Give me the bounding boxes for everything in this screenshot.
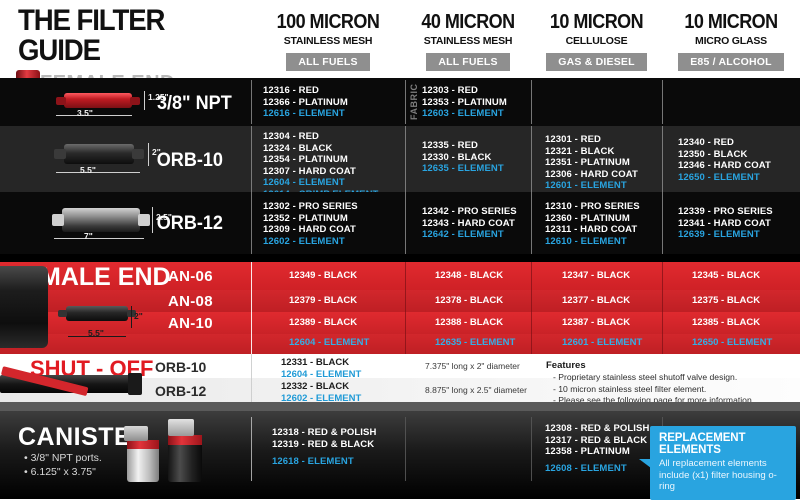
- column-fuel-badge: ALL FUELS: [426, 53, 509, 71]
- row-size-label-shutoff-orb12: ORB-12: [155, 383, 206, 399]
- dimension-male-length: 5.5": [88, 328, 104, 338]
- element-part-number-40micron: 12635 - ELEMENT: [435, 337, 515, 348]
- column-media-label: MICRO GLASS: [662, 35, 800, 47]
- part-number: 12351 - PLATINUM: [545, 157, 638, 169]
- page-title: THE FILTER GUIDE: [18, 6, 239, 66]
- part-number: 12366 - PLATINUM: [263, 97, 348, 109]
- dimension-male-diameter: 2": [134, 311, 143, 321]
- part-number: 12353 - PLATINUM: [422, 97, 507, 109]
- product-photo-orb12-endcap-right: [138, 214, 150, 226]
- cell-an08-100micron: 12379 - BLACK: [289, 295, 357, 306]
- cell-npt-40micron: 12303 - RED 12353 - PLATINUM 12603 - ELE…: [422, 78, 507, 126]
- element-part-number: 12610 - ELEMENT: [545, 236, 640, 248]
- column-header-40-micron: 40 MICRON STAINLESS MESH ALL FUELS: [405, 12, 531, 71]
- table-row-an06: MALE END AN-06 12349 - BLACK 12348 - BLA…: [0, 262, 800, 290]
- column-media-label: STAINLESS MESH: [251, 35, 405, 47]
- shutoff-valve-photo-endcap: [128, 373, 142, 395]
- cell-canister-10micron-cellulose: 12308 - RED & POLISH 12317 - RED & BLACK…: [545, 423, 649, 474]
- column-fuel-badge: E85 / ALCOHOL: [678, 53, 784, 71]
- element-part-number: 12635 - ELEMENT: [422, 163, 504, 175]
- feature-item: - Proprietary stainless steel shutoff va…: [553, 372, 752, 384]
- part-number: 12311 - HARD COAT: [545, 224, 640, 236]
- cell-canister-100micron: 12318 - RED & POLISH 12319 - RED & BLACK…: [272, 427, 376, 468]
- row-size-label-shutoff-orb10: ORB-10: [155, 359, 206, 375]
- product-photo-npt: [64, 93, 132, 108]
- cell-orb12-40micron: 12342 - PRO SERIES 12343 - HARD COAT 126…: [422, 192, 517, 254]
- part-number: 12341 - HARD COAT: [678, 218, 773, 230]
- cell-orb12-100micron: 12302 - PRO SERIES 12352 - PLATINUM 1230…: [263, 192, 358, 254]
- element-part-number: 12603 - ELEMENT: [422, 108, 507, 120]
- column-micron-label: 10 MICRON: [669, 12, 793, 32]
- element-part-number: 12639 - ELEMENT: [678, 229, 773, 241]
- feature-item: - 10 micron stainless steel filter eleme…: [553, 384, 752, 396]
- cell-an10-10micron-microglass: 12385 - BLACK: [692, 317, 760, 328]
- part-number: 12309 - HARD COAT: [263, 224, 358, 236]
- part-number: 12340 - RED: [678, 137, 771, 149]
- element-part-number: 12650 - ELEMENT: [678, 172, 771, 184]
- element-part-number-10micron-cellulose: 12601 - ELEMENT: [562, 337, 642, 348]
- canister-bullets: • 3/8" NPT ports. • 6.125" x 3.75": [24, 452, 102, 479]
- part-number: 12318 - RED & POLISH: [272, 427, 376, 439]
- element-part-number: 12601 - ELEMENT: [545, 180, 638, 192]
- row-size-label-an06: AN-06: [168, 268, 213, 285]
- table-row-npt: 3.5" 1.25" 3/8" NPT 12316 - RED 12366 - …: [0, 78, 800, 126]
- element-part-number: 12602 - ELEMENT: [263, 236, 358, 248]
- cell-orb10-100micron: 12304 - RED 12324 - BLACK 12354 - PLATIN…: [263, 126, 378, 192]
- element-part-number: 12616 - ELEMENT: [263, 108, 348, 120]
- cell-npt-100micron: 12316 - RED 12366 - PLATINUM 12616 - ELE…: [263, 78, 348, 126]
- column-header-100-micron: 100 MICRON STAINLESS MESH ALL FUELS: [251, 12, 405, 71]
- part-number: 12306 - HARD COAT: [545, 169, 638, 181]
- column-micron-label: 40 MICRON: [411, 12, 524, 32]
- male-end-inline-filter-photo: [66, 306, 128, 321]
- cell-an08-10micron-microglass: 12375 - BLACK: [692, 295, 760, 306]
- cell-orb12-10micron-cellulose: 12310 - PRO SERIES 12360 - PLATINUM 1231…: [545, 192, 640, 254]
- column-media-label: CELLULOSE: [531, 35, 662, 47]
- cell-an08-40micron: 12378 - BLACK: [435, 295, 503, 306]
- part-number: 12352 - PLATINUM: [263, 213, 358, 225]
- element-part-number-100micron: 12604 - ELEMENT: [289, 337, 369, 348]
- row-size-label-an10: AN-10: [168, 315, 213, 332]
- canister-photo-polish: [127, 448, 159, 482]
- cell-an06-10micron-microglass: 12345 - BLACK: [692, 270, 760, 281]
- part-number: 12358 - PLATINUM: [545, 446, 649, 458]
- product-photo-orb12: [62, 208, 140, 232]
- cell-orb10-40micron: 12335 - RED 12330 - BLACK 12635 - ELEMEN…: [422, 126, 504, 192]
- part-number: 12331 - BLACK: [281, 357, 361, 369]
- element-part-number: 12618 - ELEMENT: [272, 456, 376, 468]
- dimension-shutoff-orb10: 7.375" long x 2" diameter: [425, 361, 520, 371]
- table-row-male-elements: 12604 - ELEMENT 12635 - ELEMENT 12601 - …: [0, 334, 800, 354]
- part-number: 12310 - PRO SERIES: [545, 201, 640, 213]
- part-number: 12304 - RED: [263, 131, 378, 143]
- product-photo-orb10-endcap-right: [132, 149, 144, 159]
- canister-bullet: • 6.125" x 3.75": [24, 466, 102, 480]
- part-number: 12303 - RED: [422, 85, 507, 97]
- male-end-title: MALE END: [40, 265, 171, 290]
- canister-photo-black-cap: [168, 435, 202, 445]
- element-part-number-10micron-microglass: 12650 - ELEMENT: [692, 337, 772, 348]
- dimension-orb12-length: 7": [84, 231, 93, 241]
- section-separator: [0, 402, 800, 411]
- element-part-number: 12604 - ELEMENT: [263, 177, 378, 189]
- male-end-filter-endcap-left: [58, 310, 67, 317]
- part-number: 12350 - BLACK: [678, 149, 771, 161]
- part-number: 12302 - PRO SERIES: [263, 201, 358, 213]
- replacement-elements-title: REPLACEMENT ELEMENTS: [659, 432, 787, 456]
- part-number: 12321 - BLACK: [545, 146, 638, 158]
- dimension-orb10-length: 5.5": [80, 165, 96, 175]
- cell-orb10-10micron-microglass: 12340 - RED 12350 - BLACK 12346 - HARD C…: [678, 126, 771, 192]
- canister-section: CANISTER • 3/8" NPT ports. • 6.125" x 3.…: [0, 411, 800, 499]
- part-number: 12339 - PRO SERIES: [678, 206, 773, 218]
- part-number: 12335 - RED: [422, 140, 504, 152]
- cell-an06-10micron-cellulose: 12347 - BLACK: [562, 270, 630, 281]
- dimension-npt-length: 3.5": [77, 108, 93, 118]
- replacement-elements-line2: include (x1) filter housing o-ring: [659, 470, 787, 493]
- column-fuel-badge: GAS & DIESEL: [546, 53, 647, 71]
- column-media-label: STAINLESS MESH: [405, 35, 531, 47]
- dimension-shutoff-orb12: 8.875" long x 2.5" diameter: [425, 385, 527, 395]
- row-size-label-orb12: ORB-12: [157, 213, 223, 235]
- part-number: 12330 - BLACK: [422, 152, 504, 164]
- column-micron-label: 100 MICRON: [259, 12, 398, 32]
- row-size-label-orb10: ORB-10: [157, 150, 223, 172]
- fabric-tag: FABRIC: [409, 86, 419, 120]
- replacement-elements-callout: REPLACEMENT ELEMENTS All replacement ele…: [650, 426, 796, 500]
- canister-photo-black: [168, 444, 202, 482]
- part-number: 12307 - HARD COAT: [263, 166, 378, 178]
- part-number: 12360 - PLATINUM: [545, 213, 640, 225]
- column-header-10-micron-micro-glass: 10 MICRON MICRO GLASS E85 / ALCOHOL: [662, 12, 800, 71]
- section-separator: [0, 254, 800, 262]
- cell-an10-10micron-cellulose: 12387 - BLACK: [562, 317, 630, 328]
- part-number: 12343 - HARD COAT: [422, 218, 517, 230]
- part-number: 12324 - BLACK: [263, 143, 378, 155]
- replacement-elements-line1: All replacement elements: [659, 458, 787, 470]
- column-header-10-micron-cellulose: 10 MICRON CELLULOSE GAS & DIESEL: [531, 12, 662, 71]
- part-number: 12319 - RED & BLACK: [272, 439, 376, 451]
- element-part-number: 12608 - ELEMENT: [545, 463, 649, 475]
- features-title: Features: [546, 360, 586, 371]
- cell-an06-100micron: 12349 - BLACK: [289, 270, 357, 281]
- product-photo-npt-endcap-right: [130, 97, 140, 105]
- column-fuel-badge: ALL FUELS: [286, 53, 369, 71]
- canister-bullet: • 3/8" NPT ports.: [24, 452, 102, 466]
- product-photo-orb10-endcap-left: [54, 149, 66, 159]
- table-row-orb12: 7" 2.5" ORB-12 12302 - PRO SERIES 12352 …: [0, 192, 800, 254]
- canister-photo-polish-bracket: [124, 426, 148, 441]
- cell-orb12-10micron-microglass: 12339 - PRO SERIES 12341 - HARD COAT 126…: [678, 192, 773, 254]
- table-row-orb10: 5.5" 2" ORB-10 12304 - RED 12324 - BLACK…: [0, 126, 800, 192]
- part-number: 12346 - HARD COAT: [678, 160, 771, 172]
- product-photo-npt-endcap-left: [56, 97, 66, 105]
- part-number: 12354 - PLATINUM: [263, 154, 378, 166]
- cell-an06-40micron: 12348 - BLACK: [435, 270, 503, 281]
- part-number: 12308 - RED & POLISH: [545, 423, 649, 435]
- part-number: 12342 - PRO SERIES: [422, 206, 517, 218]
- part-number: 12301 - RED: [545, 134, 638, 146]
- part-number: 12316 - RED: [263, 85, 348, 97]
- row-size-label-npt: 3/8" NPT: [157, 93, 232, 115]
- canister-photo-polish-cap: [127, 440, 159, 449]
- cell-an10-100micron: 12389 - BLACK: [289, 317, 357, 328]
- cell-an10-40micron: 12388 - BLACK: [435, 317, 503, 328]
- row-size-label-an08: AN-08: [168, 293, 213, 310]
- male-end-fitting-photo: [0, 266, 48, 348]
- filter-guide-page: THE FILTER GUIDE FEMALE END 100 MICRON S…: [0, 0, 800, 499]
- part-number: 12332 - BLACK: [281, 381, 361, 393]
- cell-an08-10micron-cellulose: 12377 - BLACK: [562, 295, 630, 306]
- canister-photo-black-bracket: [168, 419, 194, 436]
- part-number: 12317 - RED & BLACK: [545, 435, 649, 447]
- callout-tail: [639, 459, 651, 468]
- product-photo-orb10: [64, 144, 134, 164]
- product-photo-orb12-endcap-left: [52, 214, 64, 226]
- column-micron-label: 10 MICRON: [538, 12, 656, 32]
- element-part-number: 12642 - ELEMENT: [422, 229, 517, 241]
- cell-orb10-10micron-cellulose: 12301 - RED 12321 - BLACK 12351 - PLATIN…: [545, 126, 638, 192]
